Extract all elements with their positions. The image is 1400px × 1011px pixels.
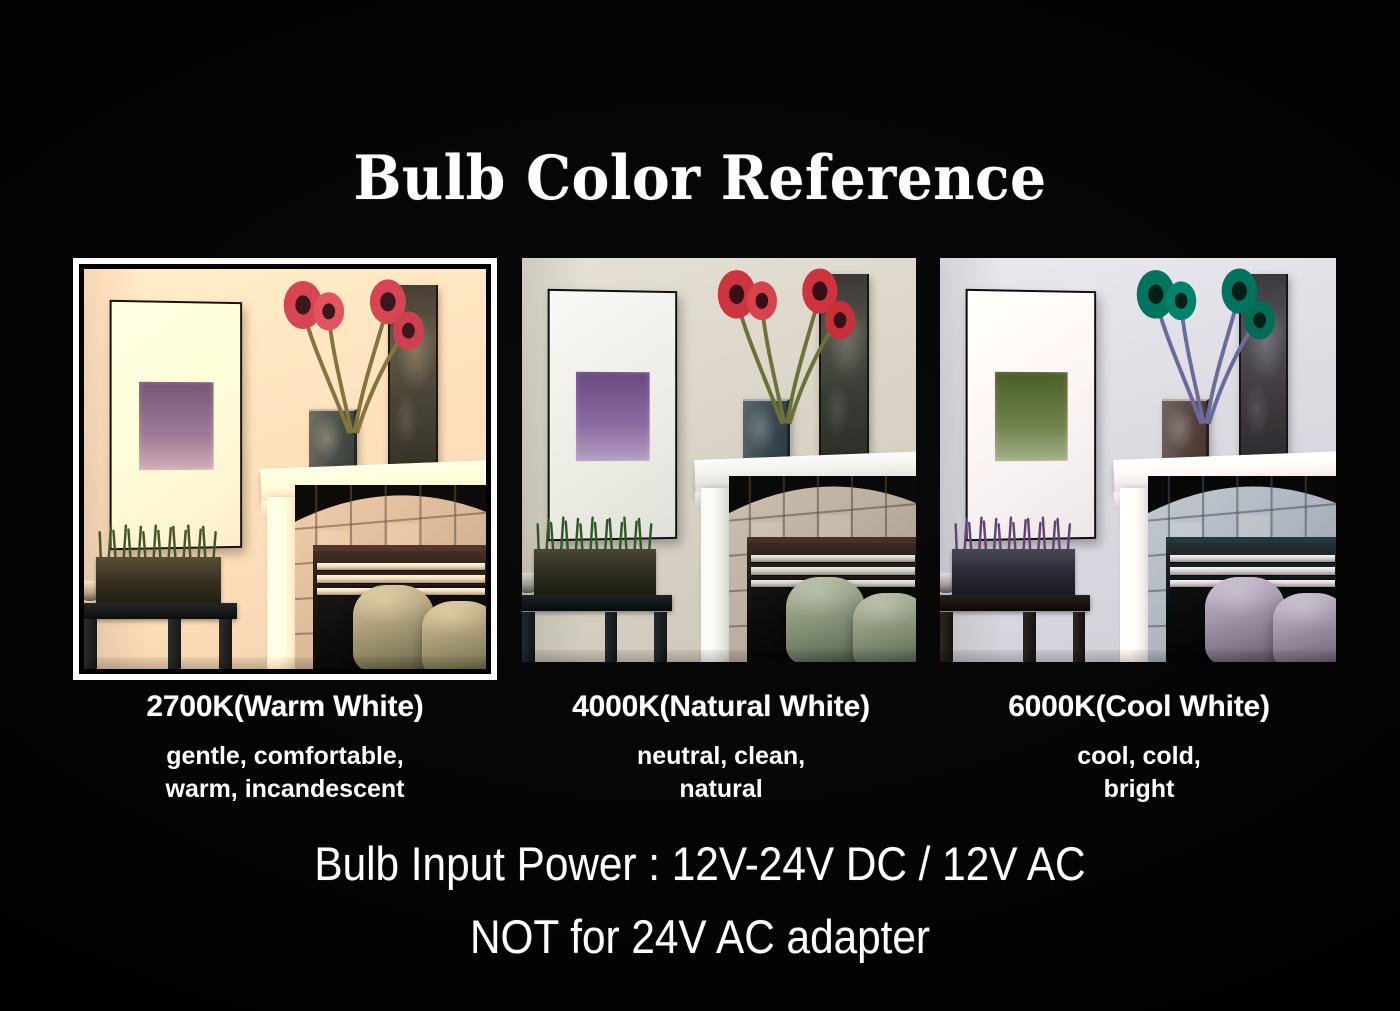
chrome-band <box>751 555 916 563</box>
caption-cool-white: 6000K(Cool White) cool, cold, bright <box>934 690 1344 805</box>
mantel-pilaster <box>701 488 731 662</box>
page-title: Bulb Color Reference <box>49 143 1351 214</box>
panel-warm-white[interactable] <box>73 258 497 680</box>
room-scene <box>940 258 1336 662</box>
planter-box <box>534 549 656 597</box>
room-photo-natural-white <box>522 258 916 662</box>
planter-box <box>952 549 1075 597</box>
floor <box>84 657 486 669</box>
purple-artwork <box>139 382 213 470</box>
chrome-band <box>317 575 485 583</box>
framed-artwork <box>547 289 677 542</box>
panel-frame <box>522 258 916 662</box>
console-table <box>522 595 672 611</box>
room-photo-cool-white <box>940 258 1336 662</box>
caption-warm-white: 2700K(Warm White) gentle, comfortable, w… <box>60 690 510 805</box>
caption-title: 6000K(Cool White) <box>934 690 1344 724</box>
caption-line: natural <box>512 773 930 806</box>
color-temperature-panels <box>0 258 1400 680</box>
floor <box>522 650 916 662</box>
caption-description: neutral, clean, natural <box>512 740 930 805</box>
caption-line: warm, incandescent <box>60 773 510 806</box>
caption-line: cool, cold, <box>934 740 1344 773</box>
console-table <box>84 603 237 619</box>
red-gerbera-flowers <box>1138 262 1265 424</box>
caption-title: 4000K(Natural White) <box>512 690 930 724</box>
purple-artwork <box>576 372 649 461</box>
panel-highlight-border <box>73 258 497 680</box>
room-scene <box>522 258 916 662</box>
caption-title: 2700K(Warm White) <box>60 690 510 724</box>
artwork-mat <box>549 291 675 540</box>
panel-frame <box>940 258 1336 662</box>
infographic-page: Bulb Color Reference <box>0 0 1400 1011</box>
console-table <box>940 595 1090 611</box>
artwork-mat <box>967 291 1093 540</box>
chrome-band <box>1170 567 1335 575</box>
caption-description: cool, cold, bright <box>934 740 1344 805</box>
mantel-pilaster <box>1120 488 1150 662</box>
panel-cool-white[interactable] <box>940 258 1336 662</box>
panel-natural-white[interactable] <box>522 258 916 662</box>
red-gerbera-flowers <box>719 262 845 424</box>
framed-artwork <box>965 289 1095 542</box>
caption-natural-white: 4000K(Natural White) neutral, clean, nat… <box>512 690 930 805</box>
framed-artwork <box>110 300 242 550</box>
footer-notes: Bulb Input Power : 12V-24V DC / 12V AC N… <box>0 836 1400 964</box>
adapter-warning-note: NOT for 24V AC adapter <box>70 909 1330 964</box>
caption-line: gentle, comfortable, <box>60 740 510 773</box>
caption-line: neutral, clean, <box>512 740 930 773</box>
input-power-note: Bulb Input Power : 12V-24V DC / 12V AC <box>70 836 1330 891</box>
planter-box <box>96 557 221 605</box>
floor <box>940 650 1336 662</box>
mantel-pilaster <box>267 497 297 669</box>
purple-artwork <box>994 372 1067 461</box>
room-photo-warm-white <box>84 269 486 669</box>
chrome-band <box>751 567 916 575</box>
red-gerbera-flowers <box>285 273 414 433</box>
chrome-band <box>317 563 485 571</box>
chrome-band <box>1170 555 1335 563</box>
room-scene <box>84 269 486 669</box>
caption-description: gentle, comfortable, warm, incandescent <box>60 740 510 805</box>
caption-line: bright <box>934 773 1344 806</box>
panel-captions: 2700K(Warm White) gentle, comfortable, w… <box>0 690 1400 810</box>
artwork-mat <box>112 302 240 548</box>
